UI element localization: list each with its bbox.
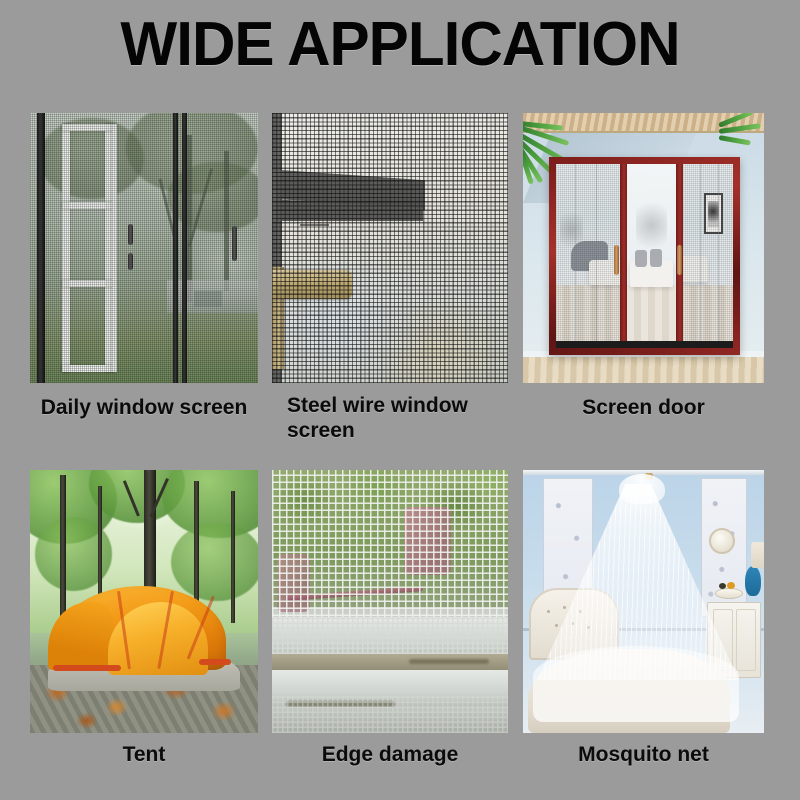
- tree-trunk: [224, 151, 229, 291]
- caption-mosquito-net: Mosquito net: [523, 742, 764, 767]
- thin-edge-line: [300, 224, 328, 226]
- photo-mosquito-net: [523, 470, 764, 733]
- concrete-ledge-upper: [272, 617, 508, 659]
- brass-handle: [272, 270, 352, 300]
- tent-skirt: [53, 665, 121, 671]
- photo-tent: [30, 470, 258, 733]
- fruit-plate: [715, 588, 743, 599]
- pink-object: [277, 554, 310, 612]
- door-handle-right: [677, 245, 682, 275]
- screen-handle: [128, 253, 133, 269]
- interior-plant: [560, 208, 583, 256]
- grid-cell-screen-door: Screen door: [523, 113, 764, 383]
- tree-foliage: [171, 523, 258, 602]
- screen-door-frame: [549, 157, 740, 355]
- framed-artwork: [704, 193, 723, 234]
- interior-floor: [627, 285, 677, 348]
- photo-screen-door: [523, 113, 764, 383]
- pink-object: [404, 507, 451, 575]
- tree-trunk: [60, 475, 66, 628]
- background-glow: [272, 113, 508, 383]
- caption-screen-door: Screen door: [523, 395, 764, 420]
- foliage: [167, 162, 258, 232]
- door-panel-left: [556, 164, 620, 348]
- grime-streak: [409, 659, 489, 664]
- door-handle-left: [614, 245, 619, 275]
- building-window: [194, 291, 221, 307]
- screen-frame-bar-left: [37, 113, 45, 383]
- caption-daily-window-screen: Daily window screen: [30, 395, 258, 420]
- photo-edge-damage: [272, 470, 508, 733]
- tent-skirt: [199, 659, 231, 665]
- blue-vase: [745, 566, 761, 596]
- wood-floor: [523, 357, 764, 383]
- interior-sofa: [683, 256, 708, 282]
- window-sash-horizontal: [62, 365, 113, 372]
- sofa-pillow: [635, 250, 647, 267]
- fruit: [727, 582, 735, 589]
- window-sash-horizontal: [62, 124, 113, 131]
- window-sash-vertical: [62, 124, 70, 372]
- window-sash-horizontal: [62, 202, 113, 209]
- interior-floor: [556, 285, 620, 348]
- cabinet-door: [736, 609, 756, 671]
- screen-handle: [128, 224, 133, 246]
- table-lamp: [751, 542, 764, 568]
- grid-cell-tent: Tent: [30, 470, 258, 733]
- wall-medallion: [709, 528, 735, 554]
- tree-trunk: [231, 491, 235, 623]
- bottom-sill: [272, 707, 508, 733]
- door-panel-middle: [627, 164, 677, 348]
- interior-floor: [683, 285, 733, 348]
- screen-frame-bar-middle: [182, 113, 187, 383]
- grid-cell-mosquito-net: Mosquito net: [523, 470, 764, 733]
- caption-edge-damage: Edge damage: [272, 742, 508, 767]
- screen-frame-bar-middle: [173, 113, 179, 383]
- caption-steel-wire-window-screen: Steel wire window screen: [272, 393, 497, 443]
- window-sash-vertical: [112, 124, 117, 372]
- grid-cell-daily-window-screen: Daily window screen: [30, 113, 258, 383]
- photo-steel-wire-window-screen: [272, 113, 508, 383]
- infographic-page: WIDE APPLICATION: [0, 0, 800, 800]
- door-sill: [556, 341, 733, 348]
- application-grid: Daily window screen Steel wire window sc…: [0, 0, 800, 800]
- net-skirt: [533, 646, 739, 722]
- sofa-pillow: [650, 249, 663, 267]
- door-panel-right: [683, 164, 733, 348]
- window-sash-horizontal: [62, 280, 113, 287]
- fruit: [719, 583, 726, 589]
- grid-cell-steel-wire-window-screen: Steel wire window screen: [272, 113, 508, 383]
- screen-handle: [232, 226, 237, 261]
- caption-tent: Tent: [30, 742, 258, 767]
- photo-daily-window-screen: [30, 113, 258, 383]
- grid-cell-edge-damage: Edge damage: [272, 470, 508, 733]
